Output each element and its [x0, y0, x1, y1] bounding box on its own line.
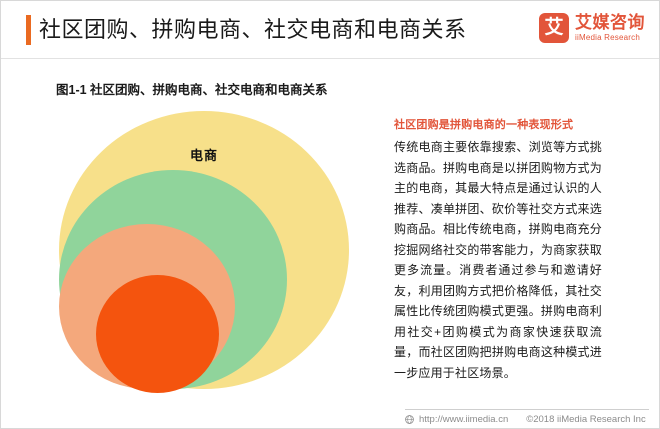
footer-copyright: ©2018 iiMedia Research Inc [526, 413, 645, 426]
description-panel: 社区团购是拼购电商的一种表现形式 传统电商主要依靠搜索、浏览等方式挑选商品。拼购… [394, 117, 602, 383]
panel-body-text: 传统电商主要依靠搜索、浏览等方式挑选商品。拼购电商是以拼团购物方式为主的电商，其… [394, 137, 602, 383]
logo-name-en: iiMedia Research [575, 32, 645, 43]
footer-url[interactable]: http://www.iimedia.cn [419, 413, 508, 426]
globe-icon [405, 415, 414, 424]
panel-heading: 社区团购是拼购电商的一种表现形式 [394, 117, 602, 134]
venn-ring-community-group-buy: 社区团购 [96, 275, 219, 393]
header-divider [1, 58, 660, 59]
brand-logo: 艾 艾媒咨询 iiMedia Research [539, 13, 645, 43]
slide: 社区团购、拼购电商、社交电商和电商关系 艾 艾媒咨询 iiMedia Resea… [0, 0, 660, 429]
footer: http://www.iimedia.cn ©2018 iiMedia Rese… [405, 413, 655, 426]
page-title: 社区团购、拼购电商、社交电商和电商关系 [39, 13, 467, 46]
logo-name-cn: 艾媒咨询 [575, 13, 645, 32]
header: 社区团购、拼购电商、社交电商和电商关系 艾 艾媒咨询 iiMedia Resea… [1, 1, 660, 58]
logo-text: 艾媒咨询 iiMedia Research [575, 13, 645, 43]
footer-divider [405, 409, 649, 410]
venn-label-ecommerce: 电商 [59, 147, 349, 165]
figure-caption: 图1-1 社区团购、拼购电商、社交电商和电商关系 [56, 81, 328, 99]
venn-diagram: 电商 社交电商 拼购电商 社区团购 [56, 107, 366, 392]
title-accent-bar [26, 15, 31, 45]
logo-mark-icon: 艾 [539, 13, 569, 43]
